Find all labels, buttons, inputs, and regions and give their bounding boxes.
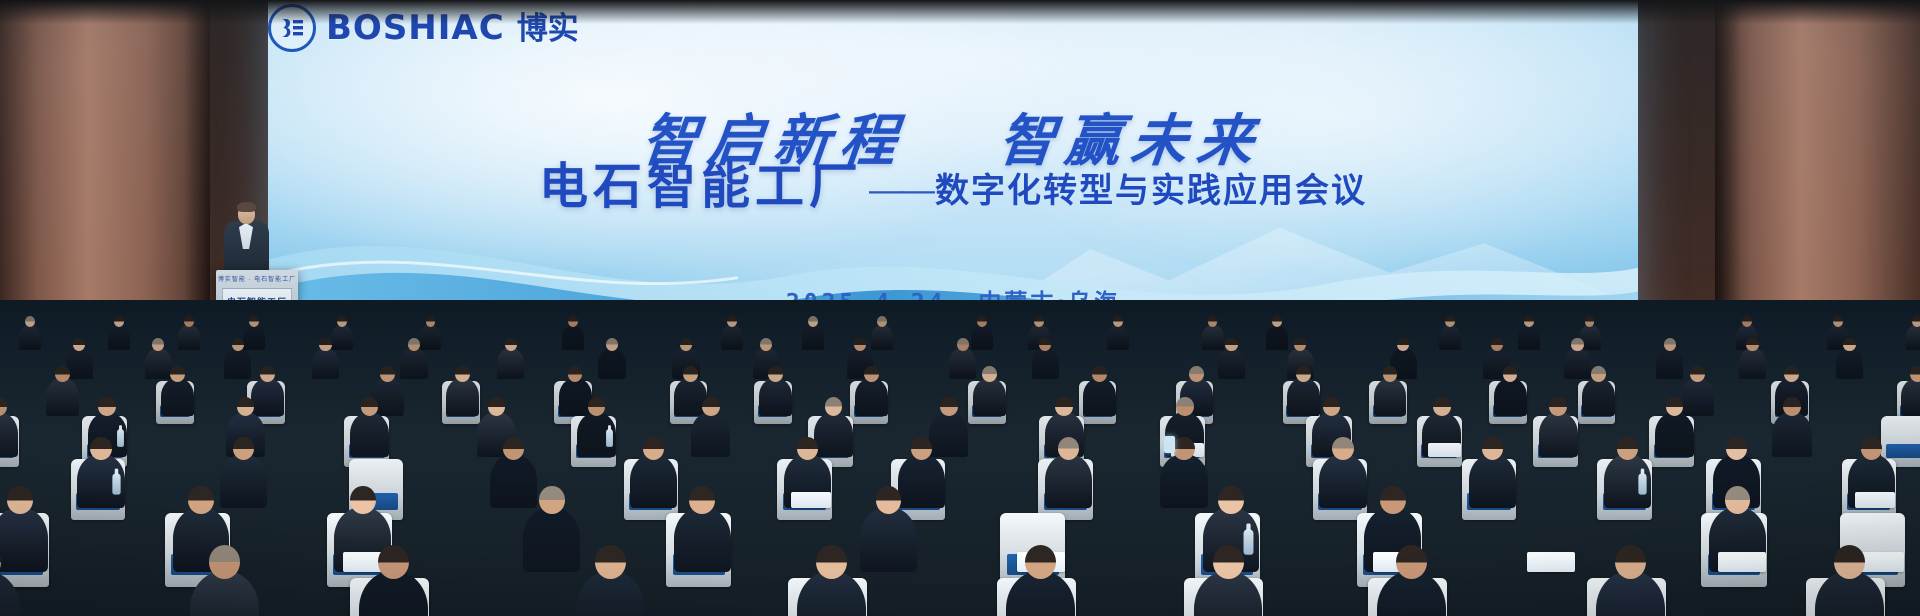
audience-member-head xyxy=(260,366,275,382)
audience-member-head xyxy=(1092,366,1107,382)
audience-member-head xyxy=(1173,437,1194,460)
audience-member-head xyxy=(1025,545,1056,578)
audience-member-head xyxy=(940,397,958,416)
audience-member-head xyxy=(455,366,470,382)
audience-member xyxy=(1374,378,1407,416)
audience-member-head xyxy=(1491,338,1503,351)
audience-member-head xyxy=(1690,366,1705,382)
audience-member xyxy=(490,454,537,508)
audience-member-head xyxy=(188,486,214,514)
audience-member-head xyxy=(1833,316,1843,327)
audience-member-head xyxy=(1726,437,1747,460)
audience-member-head xyxy=(1615,545,1646,578)
audience-member-head xyxy=(1742,316,1752,327)
audience-member xyxy=(243,325,265,350)
audience-member xyxy=(1494,378,1527,416)
audience-member xyxy=(1032,348,1059,379)
audience-member-head xyxy=(1482,437,1503,460)
audience-member xyxy=(46,378,79,416)
audience-member-head xyxy=(90,437,111,460)
audience-member xyxy=(802,325,824,350)
audience-member xyxy=(1564,348,1591,379)
audience-member xyxy=(331,325,353,350)
audience-member-head xyxy=(1189,366,1204,382)
audience-member-head xyxy=(233,437,254,460)
audience-member xyxy=(220,454,267,508)
audience-member-head xyxy=(1058,437,1079,460)
audience-member-head xyxy=(350,486,376,514)
audience-member-head xyxy=(114,316,124,327)
audience-member xyxy=(898,454,945,508)
chair-seat-band xyxy=(1886,444,1920,458)
audience-member xyxy=(1582,378,1615,416)
water-bottle xyxy=(1639,474,1647,495)
audience-member-head xyxy=(702,397,720,416)
audience-member xyxy=(1287,378,1320,416)
audience-member-head xyxy=(876,486,902,514)
audience-member-head xyxy=(319,338,331,351)
audience-member xyxy=(1681,378,1714,416)
audience-member-head xyxy=(378,545,409,578)
ceiling-shadow xyxy=(0,0,1920,24)
audience-member xyxy=(630,454,677,508)
audience-member-head xyxy=(643,437,664,460)
audience-member xyxy=(860,507,917,572)
audience-member xyxy=(224,348,251,379)
audience-member xyxy=(1469,454,1516,508)
audience-member xyxy=(1836,348,1863,379)
water-bottle xyxy=(1244,529,1254,555)
seated-audience xyxy=(0,300,1920,616)
audience-member-head xyxy=(1617,437,1638,460)
audience-member-head xyxy=(1861,437,1882,460)
conference-hall-photo: BOSHIAC 博实 智启新程 智赢未来 电石智能工厂 —— 数字化转型与实践应… xyxy=(0,0,1920,616)
audience-member-head xyxy=(816,545,847,578)
audience-member-head xyxy=(1213,545,1244,578)
audience-member xyxy=(721,325,743,350)
audience-member xyxy=(251,378,284,416)
audience-member xyxy=(971,325,993,350)
audience-member-head xyxy=(1296,366,1311,382)
audience-member-head xyxy=(911,437,932,460)
audience-member-head xyxy=(1218,486,1244,514)
audience-member-head xyxy=(1383,366,1398,382)
audience-member xyxy=(400,348,427,379)
audience-member-head xyxy=(727,316,737,327)
audience-member-head xyxy=(808,316,818,327)
audience-member-head xyxy=(1910,366,1920,382)
table-name-card xyxy=(1855,492,1895,509)
audience-member-head xyxy=(1725,486,1751,514)
audience-member-head xyxy=(982,366,997,382)
water-bottle xyxy=(117,430,124,448)
audience-member-head xyxy=(1834,545,1865,578)
audience-member-head xyxy=(1571,338,1583,351)
audience-member xyxy=(973,378,1006,416)
audience-member xyxy=(1901,378,1920,416)
audience-member xyxy=(1656,348,1683,379)
podium-header-text: 博实智能 · 电石智能工厂 xyxy=(216,274,298,283)
audience-member-head xyxy=(1746,338,1758,351)
audience-member-head xyxy=(568,366,583,382)
speaker-at-podium xyxy=(222,204,270,276)
audience-member xyxy=(350,412,389,457)
audience-member-head xyxy=(1784,366,1799,382)
audience-member xyxy=(814,412,853,457)
audience-member-head xyxy=(768,366,783,382)
audience-member xyxy=(1107,325,1129,350)
audience-member-head xyxy=(1433,397,1451,416)
audience-member xyxy=(1518,325,1540,350)
audience-member xyxy=(1160,454,1207,508)
water-bottle xyxy=(606,430,613,448)
audience-member xyxy=(691,412,730,457)
water-bottle xyxy=(112,474,120,495)
audience-member-head xyxy=(1783,397,1801,416)
audience-member-head xyxy=(55,366,70,382)
audience-member xyxy=(855,378,888,416)
audience-member xyxy=(1539,412,1578,457)
audience-member xyxy=(19,325,41,350)
audience-member xyxy=(559,378,592,416)
table-name-card xyxy=(1718,552,1766,572)
audience-member xyxy=(871,325,893,350)
audience-member xyxy=(178,325,200,350)
audience-member-head xyxy=(7,486,33,514)
audience-member-head xyxy=(689,486,715,514)
audience-member xyxy=(1906,325,1920,350)
audience-member-head xyxy=(1380,486,1406,514)
audience-member xyxy=(598,348,625,379)
audience-member-head xyxy=(1912,316,1920,327)
audience-member xyxy=(1202,325,1224,350)
audience-member-head xyxy=(683,366,698,382)
audience-member xyxy=(949,348,976,379)
audience-member xyxy=(419,325,441,350)
audience-member-head xyxy=(503,437,524,460)
audience-member xyxy=(1439,325,1461,350)
audience-member-head xyxy=(864,366,879,382)
audience-member xyxy=(0,507,48,572)
audience-member-head xyxy=(539,486,565,514)
audience-member-head xyxy=(877,316,887,327)
audience-member-head xyxy=(380,366,395,382)
audience-member-head xyxy=(1396,545,1427,578)
audience-member xyxy=(145,348,172,379)
audience-member xyxy=(562,325,584,350)
audience-member xyxy=(446,378,479,416)
audience-member xyxy=(674,507,731,572)
audience-member xyxy=(1655,412,1694,457)
audience-member xyxy=(1083,378,1116,416)
audience-member xyxy=(1739,348,1766,379)
audience-phone-screen xyxy=(1164,436,1175,453)
audience-member xyxy=(1772,412,1811,457)
audience-member xyxy=(1266,325,1288,350)
audience-member-head xyxy=(1664,338,1676,351)
audience-member-head xyxy=(797,437,818,460)
speaker-hair xyxy=(237,202,256,212)
audience-member-head xyxy=(1843,338,1855,351)
audience-member-head xyxy=(595,545,626,578)
audience-member-head xyxy=(1225,338,1237,351)
audience-member-head xyxy=(1176,397,1194,416)
table-name-card xyxy=(1428,443,1461,457)
table-name-card xyxy=(1527,552,1575,572)
table-name-card xyxy=(791,492,831,509)
audience-member-head xyxy=(1503,366,1518,382)
audience-member-head xyxy=(1591,366,1606,382)
audience-member xyxy=(1218,348,1245,379)
audience-member xyxy=(108,325,130,350)
audience-member-head xyxy=(1332,437,1353,460)
audience-member-head xyxy=(170,366,185,382)
audience-member xyxy=(1319,454,1366,508)
audience-member-head xyxy=(209,545,240,578)
audience-member xyxy=(759,378,792,416)
audience-member-head xyxy=(977,316,987,327)
audience-member xyxy=(523,507,580,572)
audience-member xyxy=(161,378,194,416)
audience-member xyxy=(1045,454,1092,508)
audience-member xyxy=(497,348,524,379)
audience-member xyxy=(929,412,968,457)
audience-member xyxy=(312,348,339,379)
